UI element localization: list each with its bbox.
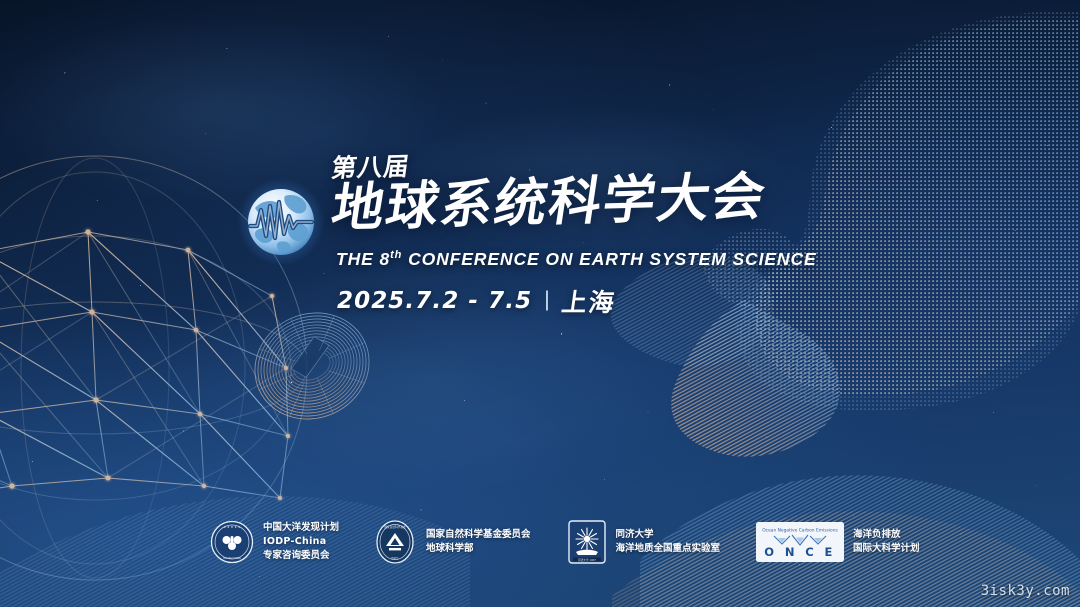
event-date: 2025.7.2 - 7.5 [337, 288, 532, 314]
sponsor-line: 地球科学部 [426, 542, 531, 556]
sponsor-line: 国际大科学计划 [853, 542, 920, 556]
sponsor-bar: ★ ★ ★ ★ ★ IODP-CHINA 中国大洋发现计划 IODP-China… [210, 519, 920, 565]
english-title-prefix: THE 8 [336, 249, 390, 269]
nsfc-earth-science-seal-logo: 国家自然科学基金 NSFC [373, 519, 417, 565]
english-title-ordinal: th [390, 249, 402, 261]
svg-text:IODP-CHINA: IODP-CHINA [223, 556, 242, 560]
event-city: 上海 [559, 283, 618, 319]
svg-text:国家自然科学基金: 国家自然科学基金 [384, 525, 406, 529]
sponsor-nsfc-text: 国家自然科学基金委员会 地球科学部 [426, 528, 531, 556]
sponsor-line: 专家咨询委员会 [263, 549, 339, 563]
sponsor-line: 同济大学 [616, 528, 721, 542]
sponsor-iodp-china: ★ ★ ★ ★ ★ IODP-CHINA 中国大洋发现计划 IODP-China… [210, 520, 339, 564]
svg-text:★ ★ ★ ★ ★: ★ ★ ★ ★ ★ [223, 525, 241, 529]
english-title-suffix: CONFERENCE ON EARTH SYSTEM SCIENCE [408, 249, 817, 269]
sponsor-tongji-text: 同济大学 海洋地质全国重点实验室 [616, 528, 721, 556]
sponsor-once: Ocean Negative Carbon Emissions O N C E … [756, 522, 920, 562]
sponsor-line: 海洋负排放 [853, 528, 920, 542]
once-wordmark: O N C E [764, 545, 836, 559]
iodp-china-seal-logo: ★ ★ ★ ★ ★ IODP-CHINA [210, 520, 254, 564]
sponsor-iodp-china-text: 中国大洋发现计划 IODP-China 专家咨询委员会 [263, 521, 339, 562]
sponsor-line: 中国大洋发现计划 [263, 521, 339, 535]
english-title: THE 8th CONFERENCE ON EARTH SYSTEM SCIEN… [336, 249, 802, 270]
sponsor-once-text: 海洋负排放 国际大科学计划 [853, 528, 920, 556]
svg-text:NSFC: NSFC [391, 556, 398, 560]
sponsor-line: 国家自然科学基金委员会 [426, 528, 531, 542]
meta-separator: | [544, 288, 549, 312]
conference-poster: 第八届 地球系统科学大会 THE 8th CONFERENCE ON EARTH… [0, 0, 1080, 607]
sponsor-line: IODP-China [263, 535, 339, 549]
event-meta: 2025.7.2 - 7.5 | 上海 [337, 283, 802, 319]
headline-group: 第八届 地球系统科学大会 THE 8th CONFERENCE ON EARTH… [332, 150, 802, 319]
sponsor-line: 海洋地质全国重点实验室 [616, 542, 721, 556]
site-watermark: 3isk3y.com [981, 583, 1070, 599]
once-ocean-negative-carbon-emissions-logo: Ocean Negative Carbon Emissions O N C E [756, 522, 844, 562]
tongji-university-shield-logo: 同济大学 1907 [567, 519, 607, 565]
title-block: 第八届 地球系统科学大会 THE 8th CONFERENCE ON EARTH… [236, 150, 796, 335]
page-title: 地球系统科学大会 [328, 169, 808, 237]
sponsor-tongji: 同济大学 1907 同济大学 海洋地质全国重点实验室 [567, 519, 721, 565]
once-caption-top: Ocean Negative Carbon Emissions [762, 528, 838, 534]
svg-text:同济大学 1907: 同济大学 1907 [578, 558, 596, 562]
sponsor-nsfc: 国家自然科学基金 NSFC 国家自然科学基金委员会 地球科学部 [373, 519, 531, 565]
